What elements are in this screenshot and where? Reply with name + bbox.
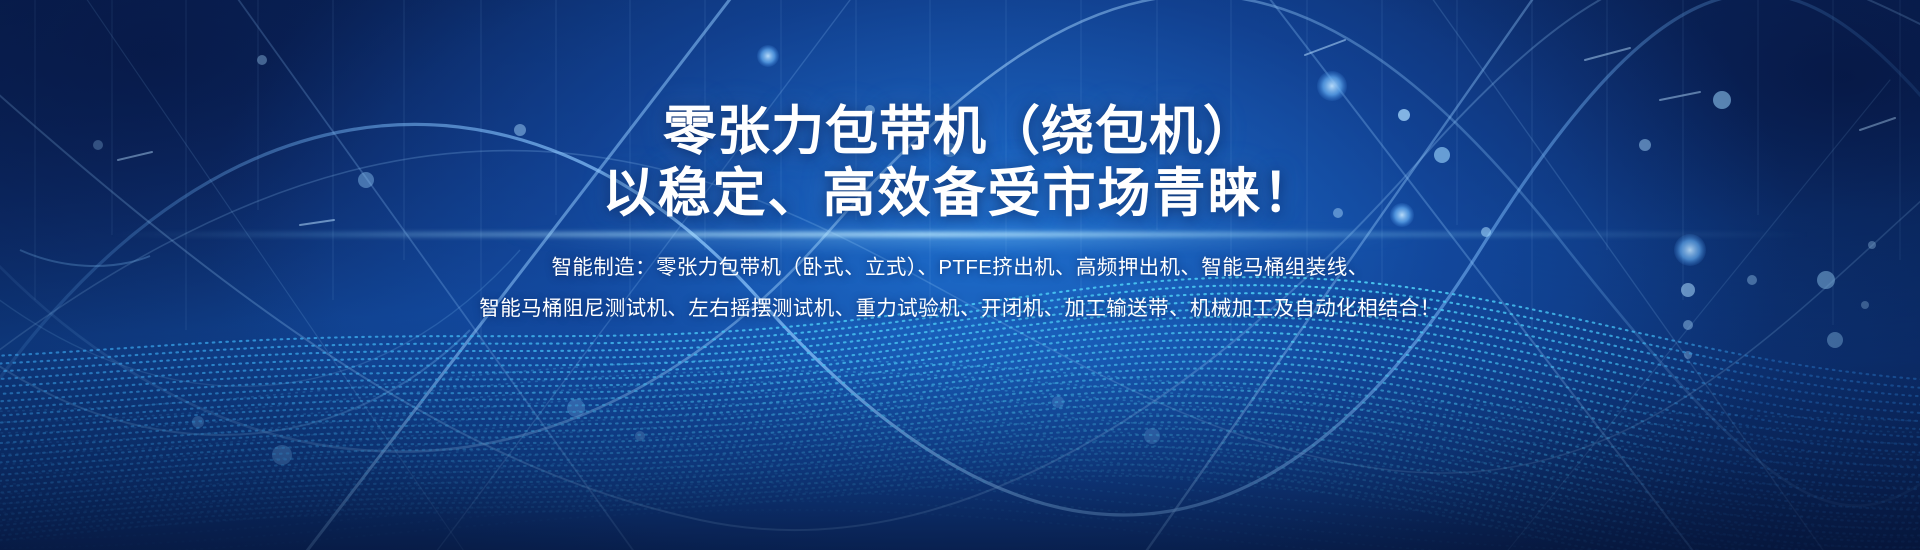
banner-subtitle: 智能制造：零张力包带机（卧式、立式）、PTFE挤出机、高频押出机、智能马桶组装线…	[0, 225, 1920, 329]
bottom-fade-overlay	[0, 360, 1920, 550]
banner-subtitle-line-1: 智能制造：零张力包带机（卧式、立式）、PTFE挤出机、高频押出机、智能马桶组装线…	[551, 256, 1368, 279]
banner-title-line-1: 零张力包带机（绕包机）	[663, 102, 1257, 161]
hero-banner: 零张力包带机（绕包机） 以稳定、高效备受市场青睐！ 智能制造：零张力包带机（卧式…	[0, 0, 1920, 550]
banner-title-line-2: 以稳定、高效备受市场青睐！	[603, 164, 1318, 223]
banner-subtitle-line-2: 智能马桶阻尼测试机、左右摇摆测试机、重力试验机、开闭机、加工输送带、机械加工及自…	[479, 297, 1440, 320]
banner-content: 零张力包带机（绕包机） 以稳定、高效备受市场青睐！ 智能制造：零张力包带机（卧式…	[0, 0, 1920, 329]
banner-title: 零张力包带机（绕包机） 以稳定、高效备受市场青睐！	[0, 0, 1920, 225]
